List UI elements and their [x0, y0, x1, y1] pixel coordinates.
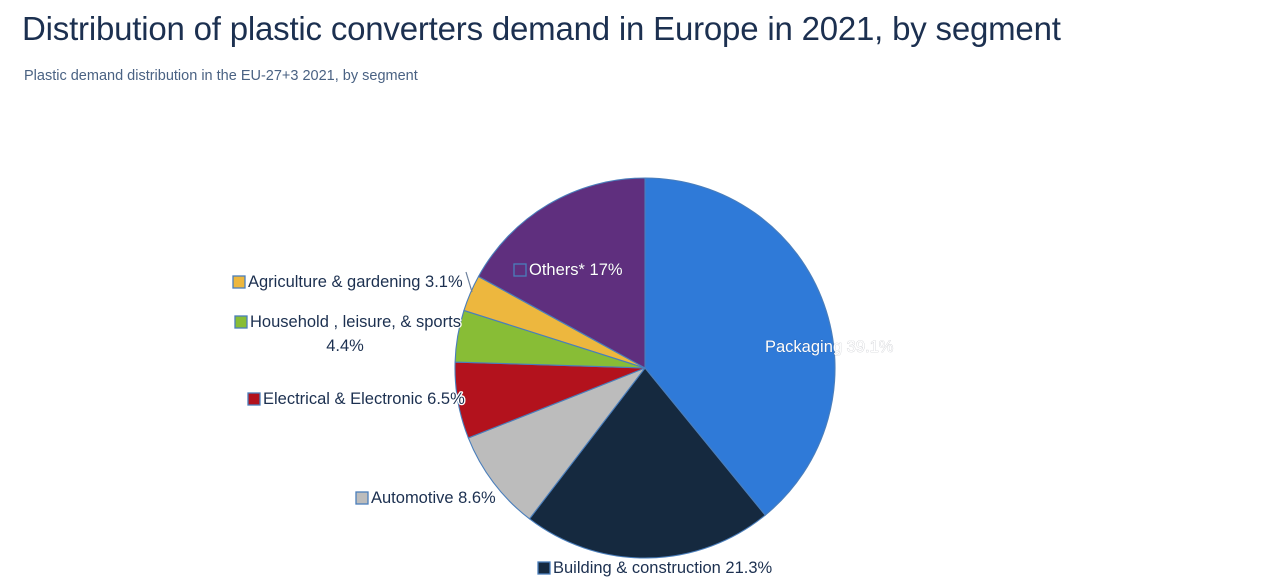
pie-chart-container: Packaging 39.1%Building & construction 2… — [0, 96, 1266, 588]
slice-color-marker — [356, 492, 368, 504]
pie-slice-label: Building & construction 21.3% — [553, 559, 773, 577]
leader-lines-group — [466, 272, 472, 292]
slice-color-marker — [248, 393, 260, 405]
pie-slice-label: Electrical & Electronic 6.5% — [263, 390, 465, 408]
page-title: Distribution of plastic converters deman… — [22, 10, 1061, 48]
chart-subtitle: Plastic demand distribution in the EU-27… — [24, 68, 418, 84]
slice-color-marker — [538, 562, 550, 574]
leader-line — [466, 272, 472, 292]
slice-color-marker — [233, 276, 245, 288]
pie-chart: Packaging 39.1%Building & construction 2… — [0, 96, 1266, 588]
pie-slice-label: Others* 17% — [529, 261, 623, 279]
pie-slice-label: Agriculture & gardening 3.1% — [248, 273, 463, 291]
pie-slices-group — [455, 178, 835, 558]
pie-slice-label: Packaging 39.1% — [765, 338, 894, 356]
slice-color-marker — [514, 264, 526, 276]
slice-color-marker — [235, 316, 247, 328]
pie-slice-label: Household , leisure, & sports — [250, 313, 461, 331]
pie-slice-label-line2: 4.4% — [326, 337, 364, 355]
pie-slice-label: Automotive 8.6% — [371, 489, 496, 507]
